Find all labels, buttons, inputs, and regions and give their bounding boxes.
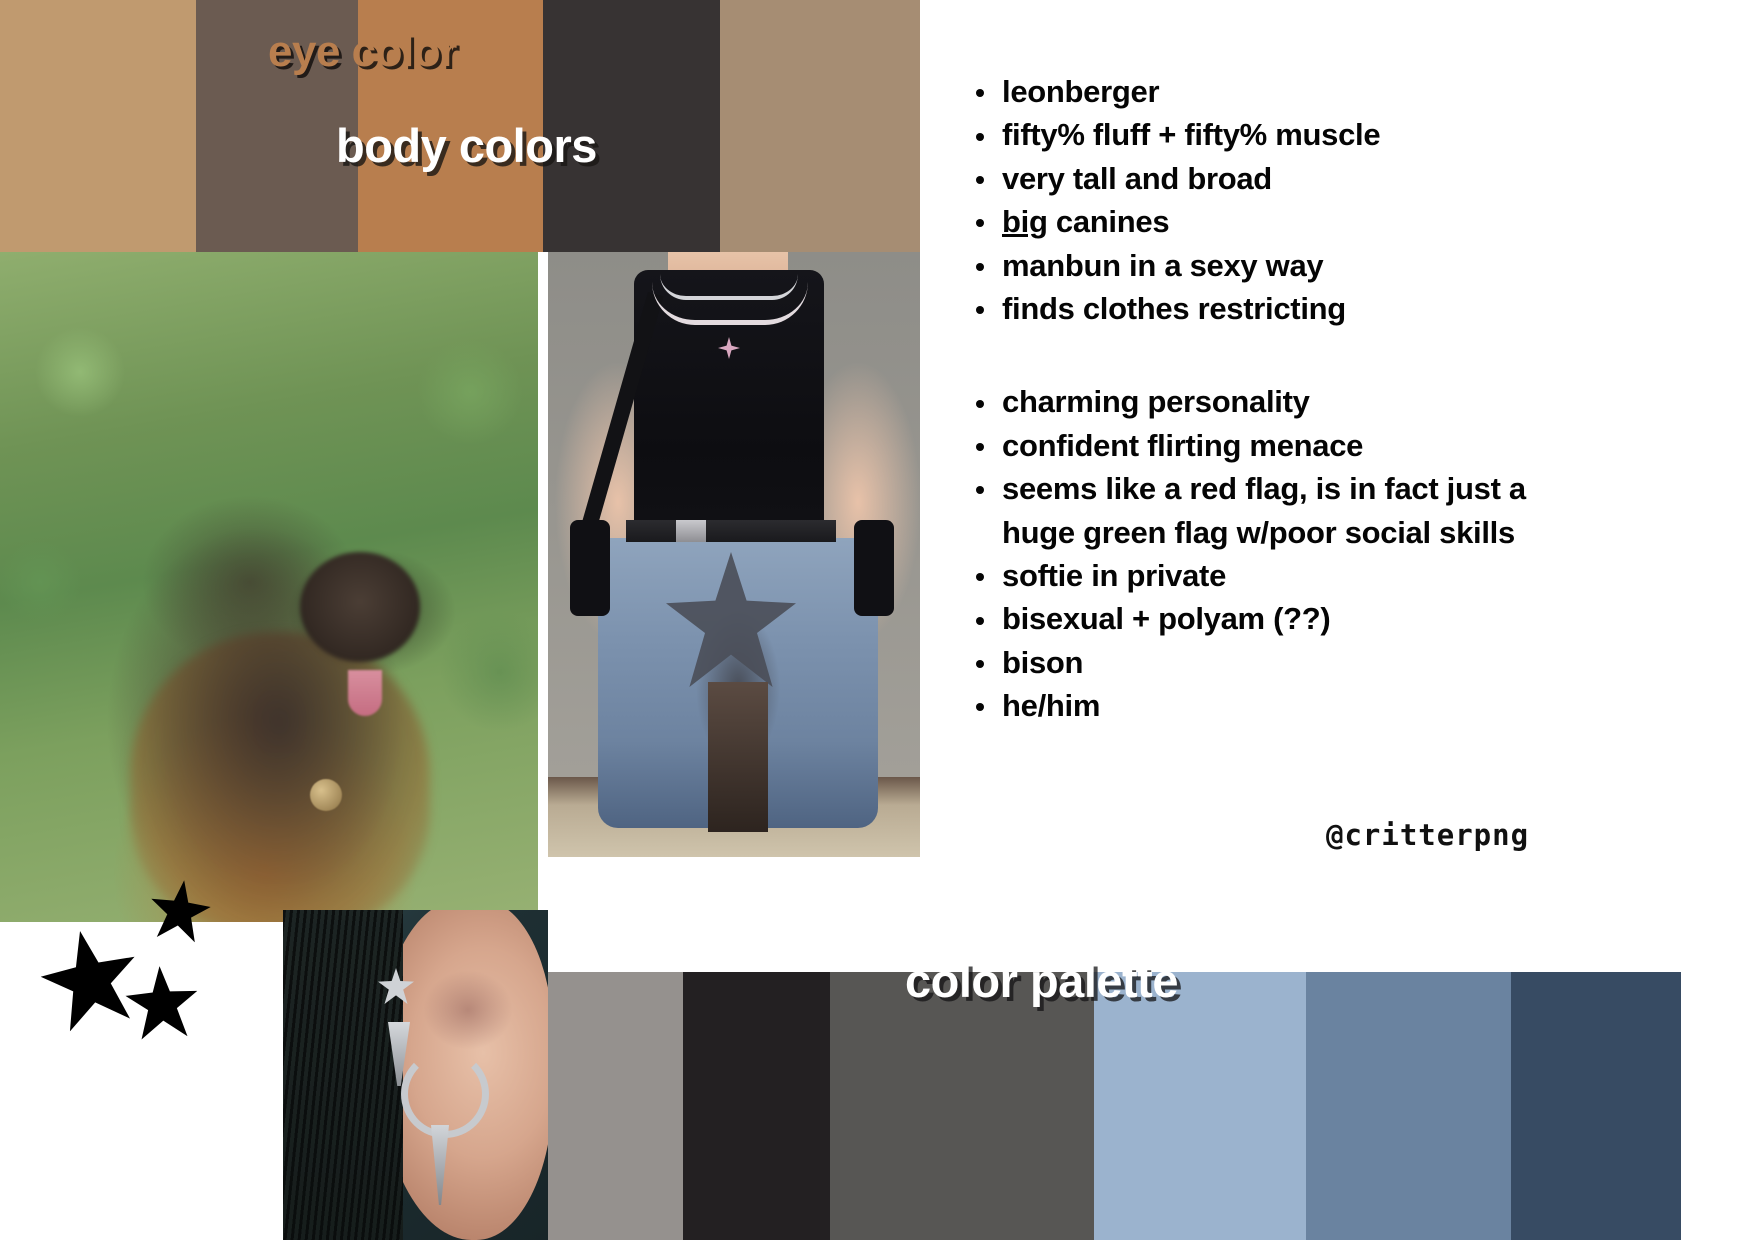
trait-list-item: softie in private bbox=[962, 554, 1562, 597]
arm-warmer-right bbox=[854, 520, 894, 616]
swatch-charcoal-gray bbox=[830, 972, 1094, 1240]
eye-color-label: eye color bbox=[268, 30, 457, 74]
belt-buckle bbox=[676, 520, 706, 542]
trait-list-item: confident flirting menace bbox=[962, 424, 1562, 467]
trait-list-item: bison bbox=[962, 641, 1562, 684]
body-colors-label: body colors bbox=[336, 122, 597, 169]
artist-handle: @critterpng bbox=[1326, 818, 1529, 852]
trait-list-item: bisexual + polyam (??) bbox=[962, 597, 1562, 640]
swatch-light-blue bbox=[1094, 972, 1306, 1240]
necklace-chain-lower bbox=[652, 282, 808, 325]
swatch-warm-gray bbox=[548, 972, 683, 1240]
leonberger-dog-photo bbox=[0, 252, 538, 922]
star-small-icon bbox=[124, 964, 201, 1041]
character-traits-panel: leonbergerfifty% fluff + fifty% muscleve… bbox=[962, 70, 1562, 727]
color-palette-label: color palette bbox=[905, 957, 1178, 1004]
dog-body-shape bbox=[130, 632, 430, 922]
black-belt bbox=[626, 520, 836, 542]
trait-list-item: manbun in a sexy way bbox=[962, 244, 1562, 287]
hair-strands bbox=[283, 910, 403, 1240]
trait-list-item: finds clothes restricting bbox=[962, 287, 1562, 330]
hoop-earring bbox=[401, 1050, 489, 1138]
trait-list-item: he/him bbox=[962, 684, 1562, 727]
trait-list-item: very tall and broad bbox=[962, 157, 1562, 200]
star-large-icon bbox=[33, 921, 147, 1035]
swatch-off-black bbox=[683, 972, 830, 1240]
trait-list-item: seems like a red flag, is in fact just a… bbox=[962, 467, 1562, 554]
swatch-navy bbox=[1511, 972, 1681, 1240]
ear-inner-shadow bbox=[423, 970, 513, 1050]
swatch-steel-blue bbox=[1306, 972, 1511, 1240]
dog-tongue-shape bbox=[348, 670, 382, 716]
star-medium-icon bbox=[146, 876, 214, 944]
bottom-color-palette-strip bbox=[548, 972, 1748, 1240]
dog-face-shape bbox=[300, 552, 420, 662]
swatch-muted-tan bbox=[720, 0, 920, 252]
trait-list-item: charming personality bbox=[962, 380, 1562, 423]
swatch-tan bbox=[0, 0, 196, 252]
trait-list-item: big canines bbox=[962, 200, 1562, 243]
traits-list-personality: charming personalityconfident flirting m… bbox=[962, 380, 1562, 727]
star-decoration-cluster bbox=[30, 880, 230, 1060]
moodboard-canvas: eye color body colors leonbergerfifty bbox=[0, 0, 1748, 1240]
trait-list-item: leonberger bbox=[962, 70, 1562, 113]
underlined-fragment: big bbox=[1002, 204, 1048, 239]
arm-warmer-left bbox=[570, 520, 610, 616]
trait-list-item: fifty% fluff + fifty% muscle bbox=[962, 113, 1562, 156]
traits-list-physical: leonbergerfifty% fluff + fifty% muscleve… bbox=[962, 70, 1562, 330]
person-tank-top-photo bbox=[548, 252, 920, 857]
ear-piercing-photo bbox=[283, 910, 548, 1240]
shorts-gap-shadow bbox=[708, 682, 768, 832]
list-spacer bbox=[962, 330, 1562, 380]
dog-collar-tag bbox=[310, 779, 342, 811]
